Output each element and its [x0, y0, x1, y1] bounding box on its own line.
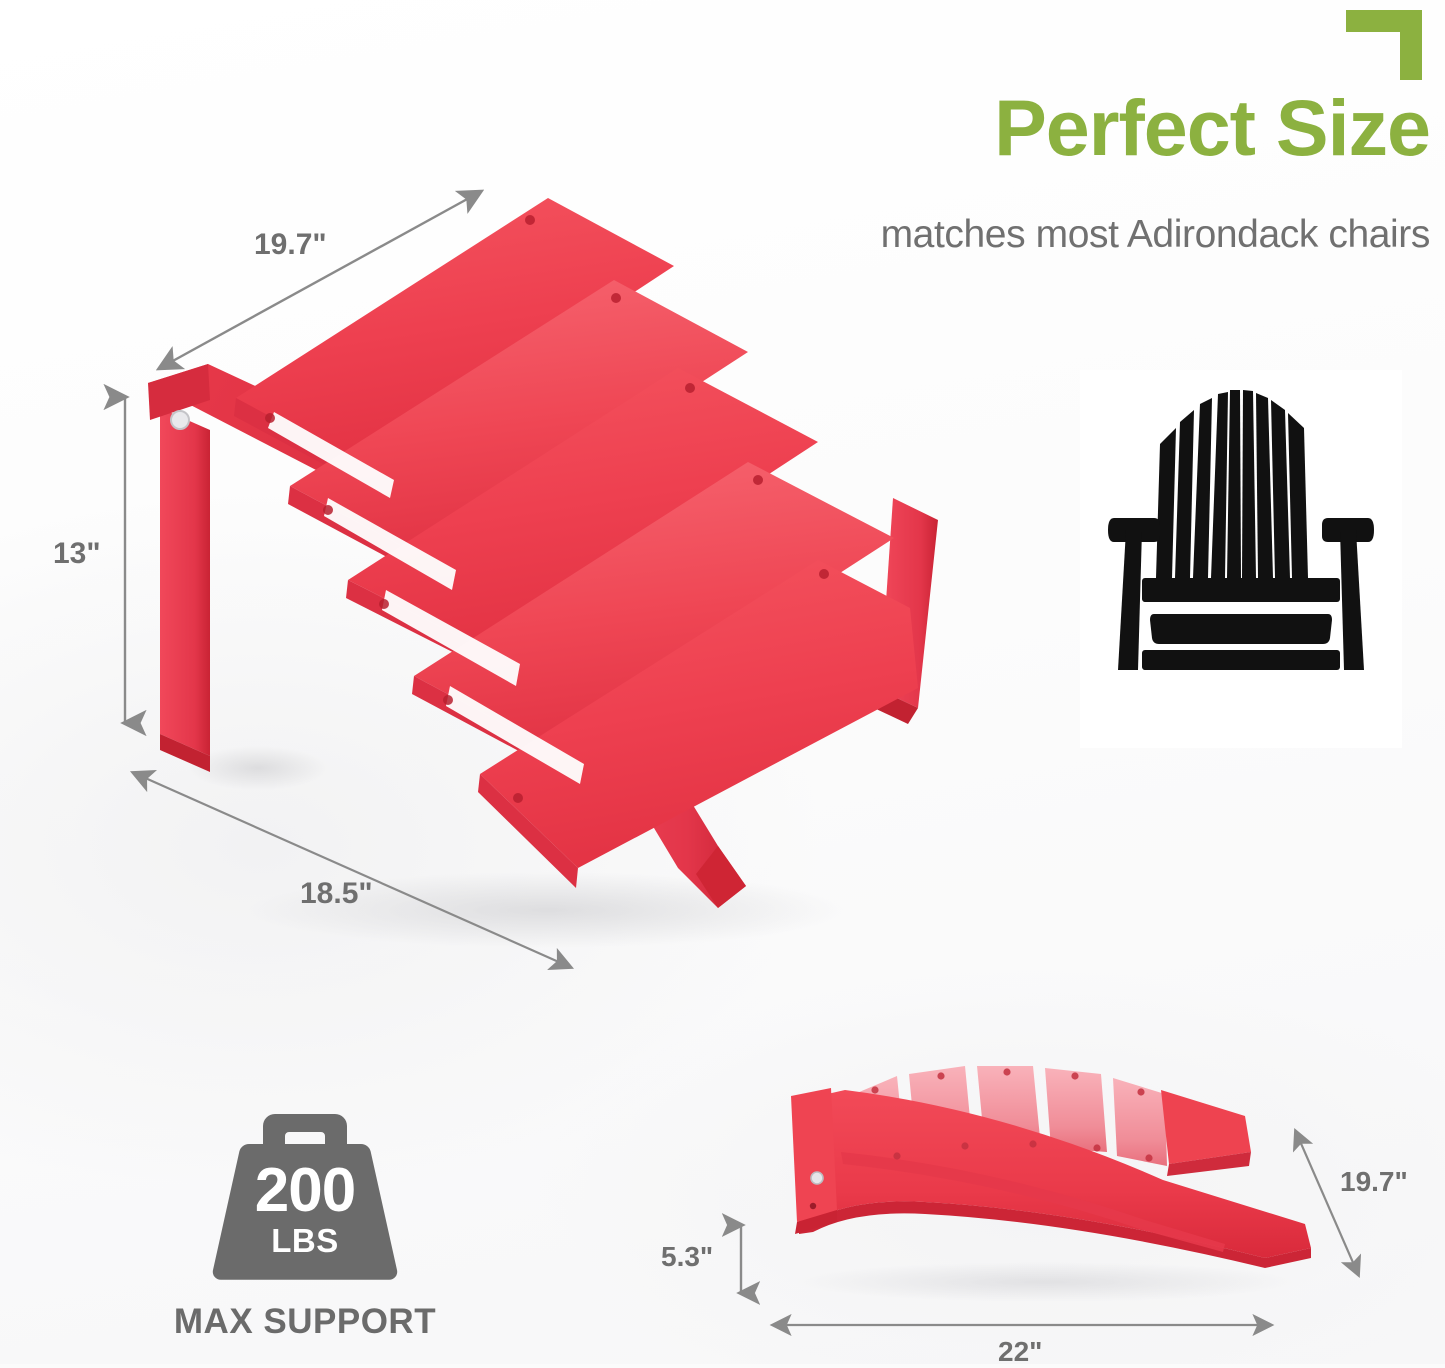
weight-kettlebell-icon: 200 LBS	[207, 1108, 403, 1288]
max-support-caption: MAX SUPPORT	[140, 1302, 470, 1342]
max-weight-unit: LBS	[207, 1224, 403, 1257]
max-weight-number: 200	[207, 1160, 403, 1222]
adirondack-chair-silhouette-icon	[1080, 370, 1402, 748]
dimension-height-left-label: 13"	[53, 537, 101, 571]
dimension-folded-depth-label: 19.7"	[1340, 1166, 1408, 1198]
corner-bracket-icon	[1346, 10, 1422, 80]
page-title: Perfect Size	[700, 88, 1430, 167]
dimension-depth-bottom: 18.5"	[118, 755, 588, 985]
dimension-width-top-label: 19.7"	[254, 228, 327, 262]
dimension-folded-width: 22"	[762, 1312, 1282, 1362]
max-support-badge: 200 LBS MAX SUPPORT	[140, 1108, 470, 1342]
dimension-folded-width-label: 22"	[998, 1336, 1042, 1368]
dimension-width-top: 19.7"	[140, 170, 500, 390]
dimension-folded-depth: 19.7"	[1282, 1122, 1374, 1287]
dimension-height-left: 13"	[95, 385, 155, 735]
product-folded-image	[745, 1060, 1345, 1310]
dimension-folded-thickness: 5.3"	[715, 1215, 767, 1303]
corner-bracket-arm-vertical	[1400, 10, 1422, 80]
dimension-folded-thickness-label: 5.3"	[661, 1241, 713, 1273]
dimension-depth-bottom-label: 18.5"	[300, 877, 373, 911]
